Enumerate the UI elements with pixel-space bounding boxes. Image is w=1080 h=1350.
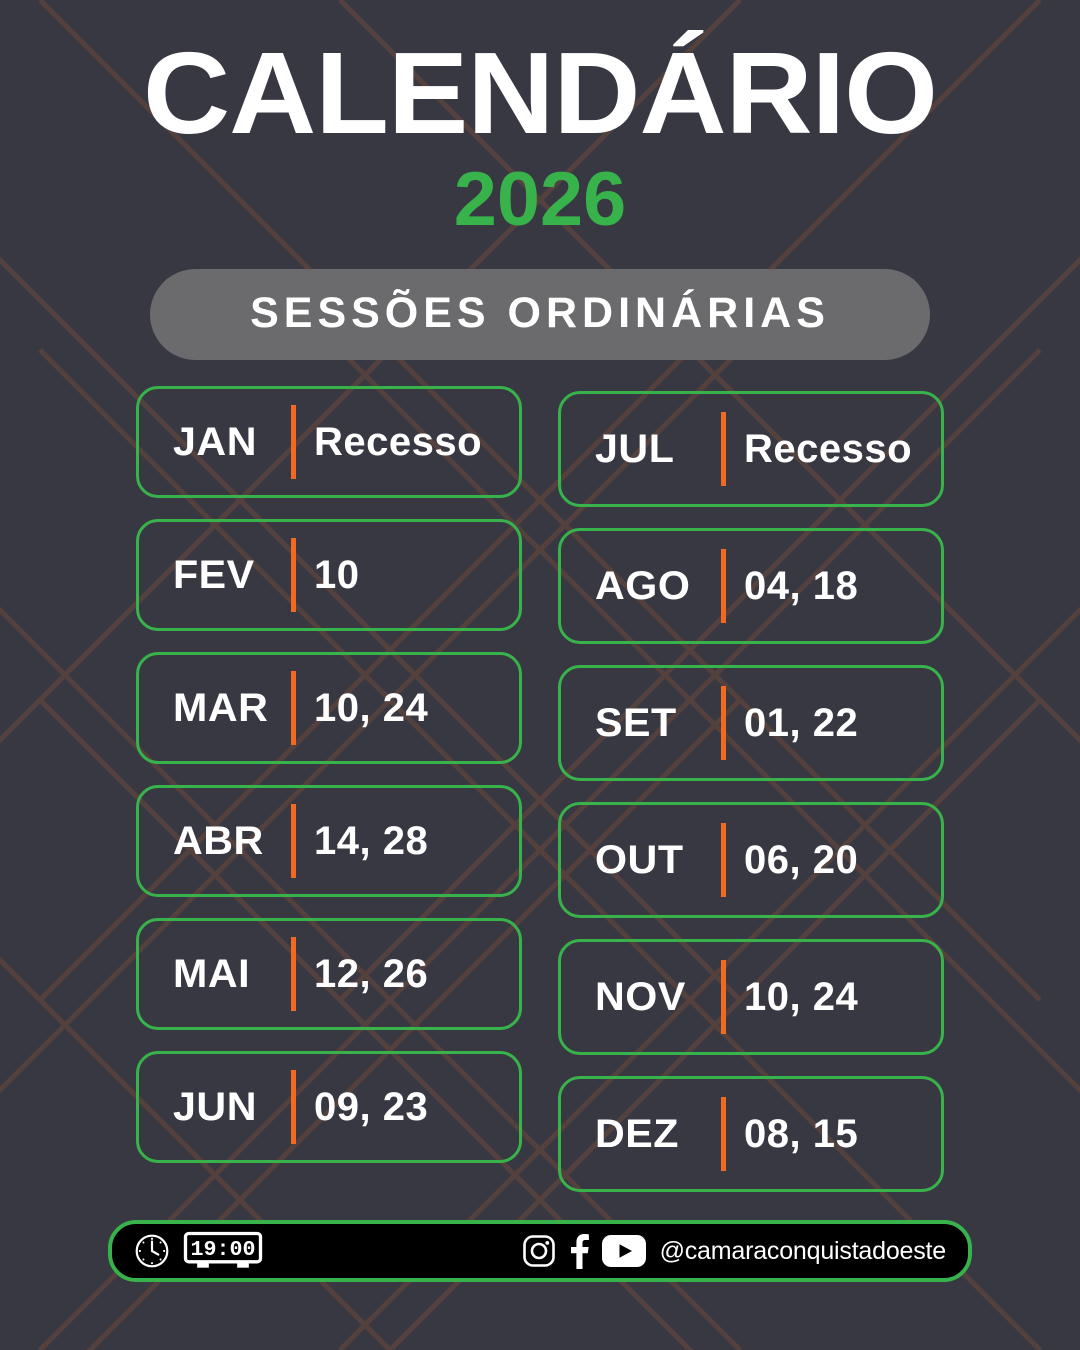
page-title: CALENDÁRIO (0, 34, 1080, 152)
month-card[interactable]: NOV 10, 24 (558, 939, 944, 1055)
subtitle-badge: SESSÕES ORDINÁRIAS (150, 269, 930, 360)
page-header: CALENDÁRIO 2026 SESSÕES ORDINÁRIAS (0, 0, 1080, 360)
calendar-column-right: JUL Recesso AGO 04, 18 SET 01, 22 OUT 06… (558, 386, 944, 1192)
month-card[interactable]: SET 01, 22 (558, 665, 944, 781)
month-card[interactable]: DEZ 08, 15 (558, 1076, 944, 1192)
month-label: JUN (173, 1085, 295, 1130)
year-label: 2026 (0, 156, 1080, 243)
month-card[interactable]: ABR 14, 28 (136, 785, 522, 897)
month-dates: 14, 28 (314, 819, 428, 864)
month-label: DEZ (595, 1112, 725, 1157)
month-card[interactable]: JUL Recesso (558, 391, 944, 507)
month-label: FEV (173, 553, 295, 598)
facebook-icon[interactable] (567, 1233, 591, 1269)
month-card[interactable]: MAI 12, 26 (136, 918, 522, 1030)
month-card[interactable]: JUN 09, 23 (136, 1051, 522, 1163)
month-card[interactable]: AGO 04, 18 (558, 528, 944, 644)
month-card[interactable]: OUT 06, 20 (558, 802, 944, 918)
youtube-icon[interactable] (602, 1235, 646, 1267)
social-handle[interactable]: @camaraconquistadoeste (660, 1237, 946, 1266)
digital-clock-time: 19:00 (191, 1237, 256, 1262)
month-label: NOV (595, 975, 725, 1020)
instagram-icon[interactable] (522, 1234, 556, 1268)
digital-clock-icon: 19:00 (183, 1231, 263, 1271)
social-links-group: @camaraconquistadoeste (522, 1233, 946, 1269)
month-label: SET (595, 701, 725, 746)
month-label: MAI (173, 952, 295, 997)
month-dates: 10, 24 (744, 975, 858, 1020)
month-dates: Recesso (314, 420, 482, 465)
month-card[interactable]: FEV 10 (136, 519, 522, 631)
month-label: OUT (595, 838, 725, 883)
month-label: AGO (595, 564, 725, 609)
month-label: MAR (173, 686, 295, 731)
calendar-grid: JAN Recesso FEV 10 MAR 10, 24 ABR 14, 28… (0, 386, 1080, 1192)
month-dates: 08, 15 (744, 1112, 858, 1157)
month-dates: 10, 24 (314, 686, 428, 731)
month-label: ABR (173, 819, 295, 864)
calendar-column-left: JAN Recesso FEV 10 MAR 10, 24 ABR 14, 28… (136, 386, 522, 1192)
month-label: JAN (173, 420, 295, 465)
month-label: JUL (595, 427, 725, 472)
month-card[interactable]: JAN Recesso (136, 386, 522, 498)
month-dates: 12, 26 (314, 952, 428, 997)
month-dates: 09, 23 (314, 1085, 428, 1130)
month-dates: Recesso (744, 427, 912, 472)
month-dates: 01, 22 (744, 701, 858, 746)
footer-bar: 19:00 @camaraconquistadoeste (108, 1220, 972, 1282)
month-dates: 10 (314, 553, 360, 598)
month-dates: 06, 20 (744, 838, 858, 883)
session-time-group: 19:00 (134, 1231, 263, 1271)
clock-icon (134, 1233, 170, 1269)
month-dates: 04, 18 (744, 564, 858, 609)
month-card[interactable]: MAR 10, 24 (136, 652, 522, 764)
